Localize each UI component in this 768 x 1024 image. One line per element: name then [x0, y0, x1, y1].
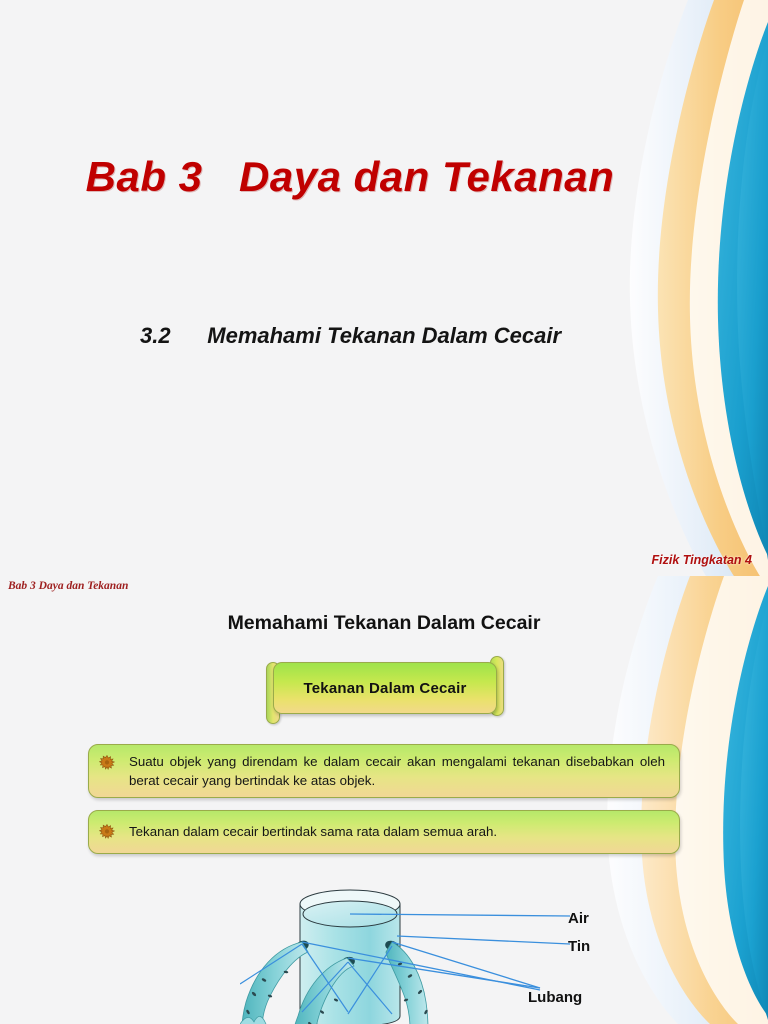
slide2-chapter-tag: Bab 3 Daya dan Tekanan: [8, 580, 128, 592]
slide1-title: Bab 3 Daya dan Tekanan: [0, 153, 700, 201]
presentation-page: Bab 3 Daya dan Tekanan 3.2 Memahami Teka…: [0, 0, 768, 1024]
slide2-title: Memahami Tekanan Dalam Cecair: [0, 612, 768, 635]
bullet-box-1: Suatu objek yang direndam ke dalam cecai…: [88, 744, 680, 798]
starburst-bullet-icon: [99, 753, 121, 789]
bullet-box-2: Tekanan dalam cecair bertindak sama rata…: [88, 810, 680, 854]
banner-label: Tekanan Dalam Cecair: [304, 680, 467, 697]
starburst-bullet-icon: [99, 819, 121, 845]
tin-berlubang-diagram: [240, 884, 660, 1024]
slide-1: Bab 3 Daya dan Tekanan 3.2 Memahami Teka…: [0, 0, 768, 576]
slide1-subtitle: 3.2 Memahami Tekanan Dalam Cecair: [140, 323, 700, 349]
slide1-footer: Fizik Tingkatan 4: [652, 553, 753, 567]
banner-tekanan-dalam-cecair: Tekanan Dalam Cecair: [262, 656, 508, 724]
slide1-decoration: [538, 0, 768, 576]
diagram-label-lubang: Lubang: [528, 989, 582, 1006]
scroll-body: Tekanan Dalam Cecair: [273, 662, 497, 714]
diagram-label-tin: Tin: [568, 938, 590, 955]
diagram-label-air: Air: [568, 910, 589, 927]
bullet-text-2: Tekanan dalam cecair bertindak sama rata…: [121, 823, 665, 842]
bullet-text-1: Suatu objek yang direndam ke dalam cecai…: [121, 753, 665, 791]
